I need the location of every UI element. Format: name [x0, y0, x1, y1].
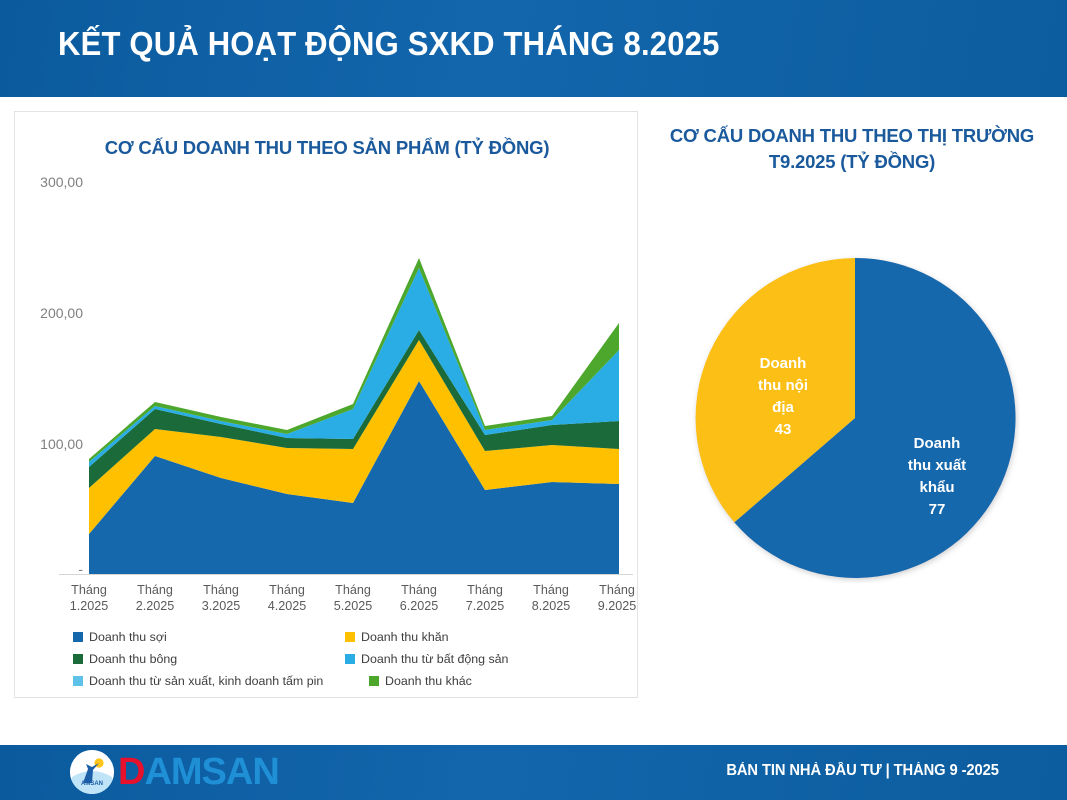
- legend-row-3: Doanh thu từ sản xuất, kinh doanh tấm pi…: [73, 674, 633, 688]
- x-tick-line2: 7.2025: [450, 598, 520, 614]
- legend-swatch-bat-dong-san: [345, 654, 355, 664]
- x-tick-line2: 2.2025: [120, 598, 190, 614]
- x-tick-line1: Tháng: [582, 582, 652, 598]
- pie-label-export-line2: thu xuất: [882, 455, 992, 477]
- legend-swatch-khan: [345, 632, 355, 642]
- legend-swatch-tam-pin: [73, 676, 83, 686]
- pie-value-domestic: 43: [728, 419, 838, 441]
- legend-label-khan: Doanh thu khăn: [361, 630, 449, 644]
- legend-swatch-soi: [73, 632, 83, 642]
- x-tick-line2: 8.2025: [516, 598, 586, 614]
- x-tick-thang-2: Tháng 2.2025: [120, 582, 190, 614]
- legend-label-khac: Doanh thu khác: [385, 674, 472, 688]
- revenue-by-product-chart-panel: CƠ CẤU DOANH THU THEO SẢN PHẨM (TỶ ĐỒNG)…: [14, 111, 638, 698]
- pie-label-export: Doanh thu xuất khẩu 77: [882, 433, 992, 521]
- legend-swatch-bong: [73, 654, 83, 664]
- damsan-wordmark-d: D: [118, 751, 144, 793]
- x-tick-thang-6: Tháng 6.2025: [384, 582, 454, 614]
- pie-chart: Doanh thu nội địa 43 Doanh thu xuất khẩu…: [690, 253, 1020, 583]
- legend-label-bong: Doanh thu bông: [89, 652, 177, 666]
- legend-item-tam-pin[interactable]: Doanh thu từ sản xuất, kinh doanh tấm pi…: [73, 674, 369, 688]
- revenue-by-market-chart-panel: CƠ CẤU DOANH THU THEO THỊ TRƯỜNG T9.2025…: [650, 111, 1054, 698]
- page-title: KẾT QUẢ HOẠT ĐỘNG SXKD THÁNG 8.2025: [58, 25, 720, 63]
- x-tick-line2: 9.2025: [582, 598, 652, 614]
- x-tick-line1: Tháng: [54, 582, 124, 598]
- x-tick-thang-7: Tháng 7.2025: [450, 582, 520, 614]
- legend-row-2: Doanh thu bông Doanh thu từ bất động sản: [73, 652, 633, 666]
- x-tick-thang-1: Tháng 1.2025: [54, 582, 124, 614]
- pie-label-export-line3: khẩu: [882, 477, 992, 499]
- damsan-wordmark-rest: AMSAN: [144, 751, 278, 793]
- damsan-logo[interactable]: AMSAN DAMSAN: [70, 750, 279, 794]
- pie-label-domestic-line3: địa: [728, 397, 838, 419]
- legend-label-bat-dong-san: Doanh thu từ bất động sản: [361, 652, 508, 666]
- x-tick-line1: Tháng: [120, 582, 190, 598]
- x-tick-line1: Tháng: [384, 582, 454, 598]
- slide-body: CƠ CẤU DOANH THU THEO SẢN PHẨM (TỶ ĐỒNG)…: [0, 101, 1067, 745]
- x-tick-line2: 3.2025: [186, 598, 256, 614]
- damsan-logo-badge-icon: AMSAN: [70, 750, 114, 794]
- x-tick-thang-9: Tháng 9.2025: [582, 582, 652, 614]
- legend-item-bat-dong-san[interactable]: Doanh thu từ bất động sản: [345, 652, 508, 666]
- x-tick-line1: Tháng: [186, 582, 256, 598]
- x-tick-thang-8: Tháng 8.2025: [516, 582, 586, 614]
- page-header: KẾT QUẢ HOẠT ĐỘNG SXKD THÁNG 8.2025: [0, 0, 1067, 97]
- area-chart-plot: 300,00 200,00 100,00 -: [15, 112, 639, 699]
- legend-item-khac[interactable]: Doanh thu khác: [369, 674, 472, 688]
- damsan-wordmark: DAMSAN: [118, 752, 279, 792]
- x-tick-line2: 4.2025: [252, 598, 322, 614]
- legend-row-1: Doanh thu sợi Doanh thu khăn: [73, 630, 633, 644]
- x-tick-line1: Tháng: [450, 582, 520, 598]
- legend-swatch-khac: [369, 676, 379, 686]
- x-axis-line: [59, 574, 633, 575]
- pie-value-export: 77: [882, 499, 992, 521]
- area-chart-legend: Doanh thu sợi Doanh thu khăn Doanh thu b…: [73, 630, 633, 696]
- x-tick-thang-3: Tháng 3.2025: [186, 582, 256, 614]
- x-tick-line2: 5.2025: [318, 598, 388, 614]
- x-tick-line1: Tháng: [252, 582, 322, 598]
- pie-label-domestic: Doanh thu nội địa 43: [728, 353, 838, 441]
- svg-text:AMSAN: AMSAN: [81, 781, 103, 787]
- pie-chart-title: CƠ CẤU DOANH THU THEO THỊ TRƯỜNG T9.2025…: [650, 123, 1054, 175]
- x-tick-thang-4: Tháng 4.2025: [252, 582, 322, 614]
- legend-item-khan[interactable]: Doanh thu khăn: [345, 630, 449, 644]
- legend-item-bong[interactable]: Doanh thu bông: [73, 652, 345, 666]
- x-tick-line1: Tháng: [318, 582, 388, 598]
- legend-item-soi[interactable]: Doanh thu sợi: [73, 630, 345, 644]
- x-tick-thang-5: Tháng 5.2025: [318, 582, 388, 614]
- legend-label-tam-pin: Doanh thu từ sản xuất, kinh doanh tấm pi…: [89, 674, 323, 688]
- logo-mark-icon: AMSAN: [70, 750, 114, 794]
- pie-label-domestic-line2: thu nội: [728, 375, 838, 397]
- footer-caption: BẢN TIN NHÀ ĐẦU TƯ | THÁNG 9 -2025: [727, 762, 999, 780]
- pie-label-export-line1: Doanh: [882, 433, 992, 455]
- pie-label-domestic-line1: Doanh: [728, 353, 838, 375]
- x-tick-line2: 1.2025: [54, 598, 124, 614]
- x-tick-line2: 6.2025: [384, 598, 454, 614]
- x-tick-line1: Tháng: [516, 582, 586, 598]
- legend-label-soi: Doanh thu sợi: [89, 630, 167, 644]
- page-footer: AMSAN DAMSAN BẢN TIN NHÀ ĐẦU TƯ | THÁNG …: [0, 745, 1067, 800]
